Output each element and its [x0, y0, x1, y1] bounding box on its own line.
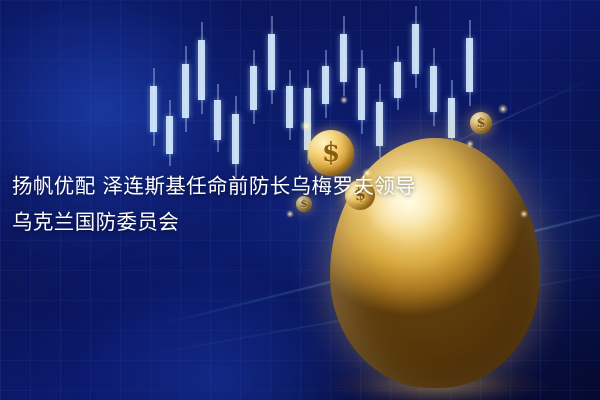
candlestick-body — [214, 100, 221, 140]
candlestick-body — [150, 86, 157, 132]
candlestick-body — [250, 66, 257, 110]
sparkle — [340, 96, 348, 104]
candlestick-body — [340, 34, 347, 82]
sparkle — [498, 104, 508, 114]
news-thumbnail-image: $ $ $ $ 扬帆优配 泽连斯基任命前防长乌梅罗夫领导乌克兰国防委员会 — [0, 0, 600, 400]
headline-text: 扬帆优配 泽连斯基任命前防长乌梅罗夫领导乌克兰国防委员会 — [12, 168, 422, 240]
candlestick-body — [182, 64, 189, 118]
candlestick-body — [430, 66, 437, 112]
candlestick-body — [394, 62, 401, 98]
candlestick-body — [376, 102, 383, 146]
candlestick-body — [448, 98, 455, 138]
sparkle — [520, 210, 528, 218]
candlestick-body — [412, 24, 419, 74]
candlestick-body — [466, 38, 473, 92]
candlestick-body — [322, 66, 329, 104]
candlestick-body — [166, 116, 173, 154]
candlestick-body — [286, 86, 293, 128]
candlestick-body — [198, 40, 205, 100]
candlestick-body — [358, 68, 365, 120]
sparkle — [466, 140, 474, 148]
candlestick-body — [304, 88, 311, 150]
gold-coin-small: $ — [470, 112, 492, 134]
sparkle — [300, 120, 312, 132]
candlestick-body — [268, 34, 275, 90]
candlestick-body — [232, 114, 239, 164]
